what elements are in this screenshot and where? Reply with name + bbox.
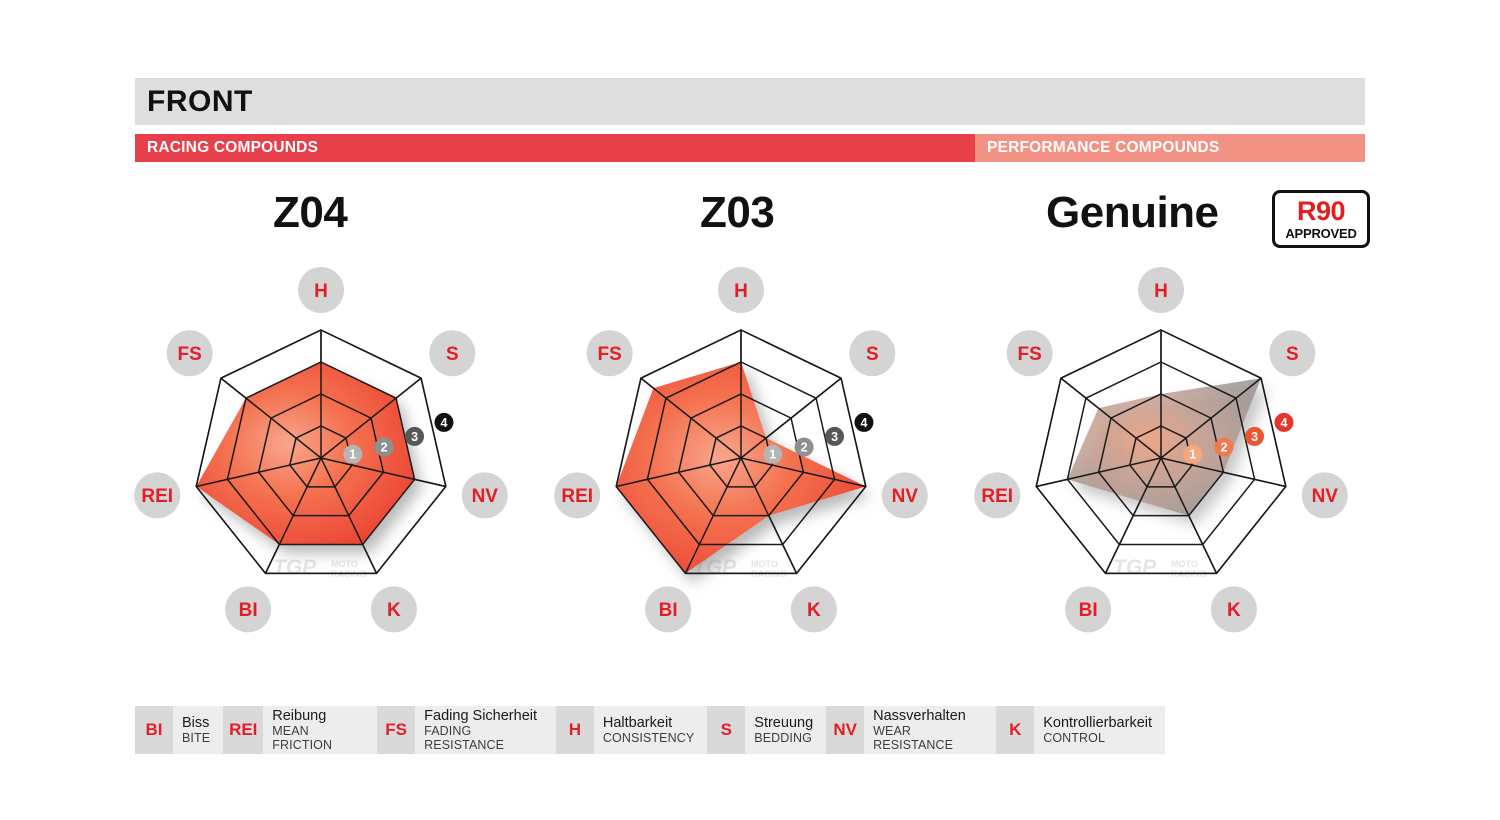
legend-item-rei: REIReibungMEAN FRICTION (223, 706, 377, 754)
axis-label-k: K (371, 586, 417, 632)
legend-term-en: CONTROL (1043, 731, 1152, 745)
legend-terms: ReibungMEAN FRICTION (263, 708, 377, 752)
axis-label-rei: REI (554, 472, 600, 518)
axis-label-bi: BI (645, 586, 691, 632)
legend-term-de: Fading Sicherheit (424, 708, 543, 724)
axis-label-nv: NV (462, 472, 508, 518)
svg-text:2: 2 (381, 440, 388, 454)
r90-badge-sub-label: APPROVED (1285, 227, 1356, 240)
svg-text:MOTO: MOTO (751, 559, 778, 569)
chart-title-z03: Z03 (700, 188, 774, 238)
chart-title-z04: Z04 (273, 188, 347, 238)
legend-term-en: MEAN FRICTION (272, 724, 364, 752)
legend: BIBissBITEREIReibungMEAN FRICTIONFSFadin… (135, 706, 1165, 754)
legend-item-nv: NVNassverhaltenWEAR RESISTANCE (826, 706, 996, 754)
radar-chart-z03: TGPMOTORACING1234HSNVKBIREIFS (551, 262, 951, 662)
svg-text:NV: NV (1312, 486, 1339, 507)
legend-term-de: Biss (182, 715, 210, 731)
legend-item-bi: BIBissBITE (135, 706, 223, 754)
ring-badge-1: 1 (1183, 445, 1202, 464)
svg-text:S: S (1286, 344, 1299, 365)
legend-code-h: H (556, 706, 594, 754)
axis-label-fs: FS (167, 330, 213, 376)
ring-badge-1: 1 (763, 445, 782, 464)
axis-label-bi: BI (1065, 586, 1111, 632)
svg-text:H: H (314, 281, 328, 302)
axis-label-h: H (718, 267, 764, 313)
axis-label-bi: BI (225, 586, 271, 632)
axis-label-nv: NV (1302, 472, 1348, 518)
svg-text:1: 1 (769, 448, 776, 462)
svg-text:4: 4 (1280, 416, 1287, 430)
legend-code-k: K (996, 706, 1034, 754)
axis-label-s: S (849, 330, 895, 376)
ring-badge-2: 2 (795, 438, 814, 457)
svg-text:FS: FS (598, 344, 622, 365)
svg-text:NV: NV (892, 486, 919, 507)
ring-badge-3: 3 (1245, 427, 1264, 446)
svg-text:TGP: TGP (273, 556, 317, 579)
legend-terms: StreuungBEDDING (745, 715, 826, 745)
band-performance-compounds: PERFORMANCE COMPOUNDS (975, 134, 1365, 162)
svg-text:4: 4 (860, 416, 867, 430)
ring-badge-1: 1 (343, 445, 362, 464)
ring-badge-3: 3 (405, 427, 424, 446)
legend-code-bi: BI (135, 706, 173, 754)
svg-text:MOTO: MOTO (1171, 559, 1198, 569)
svg-text:2: 2 (801, 440, 808, 454)
svg-text:S: S (866, 344, 879, 365)
axis-label-h: H (1138, 267, 1184, 313)
svg-text:BI: BI (239, 600, 258, 621)
radar-chart-genuine: TGPMOTORACING1234HSNVKBIREIFS (971, 262, 1371, 662)
legend-term-de: Nassverhalten (873, 708, 983, 724)
legend-item-fs: FSFading SicherheitFADING RESISTANCE (377, 706, 556, 754)
legend-term-en: BITE (182, 731, 210, 745)
svg-text:FS: FS (1018, 344, 1042, 365)
svg-text:MOTO: MOTO (331, 559, 358, 569)
svg-text:3: 3 (1251, 430, 1258, 444)
legend-code-fs: FS (377, 706, 415, 754)
svg-text:2: 2 (1221, 440, 1228, 454)
legend-terms: KontrollierbarkeitCONTROL (1034, 715, 1165, 745)
legend-term-en: BEDDING (754, 731, 813, 745)
ring-badge-4: 4 (434, 413, 453, 432)
axis-label-s: S (429, 330, 475, 376)
legend-code-rei: REI (223, 706, 263, 754)
band-racing-label: RACING COMPOUNDS (135, 139, 318, 157)
legend-term-de: Haltbarkeit (603, 715, 694, 731)
svg-text:REI: REI (561, 486, 593, 507)
legend-terms: Fading SicherheitFADING RESISTANCE (415, 708, 556, 752)
svg-text:H: H (734, 281, 748, 302)
chart-title-genuine: Genuine (1046, 188, 1219, 238)
legend-term-de: Streuung (754, 715, 813, 731)
axis-label-nv: NV (882, 472, 928, 518)
ring-badge-4: 4 (854, 413, 873, 432)
r90-badge-main-label: R90 (1297, 198, 1345, 225)
svg-text:H: H (1154, 281, 1168, 302)
legend-term-en: FADING RESISTANCE (424, 724, 543, 752)
legend-code-s: S (707, 706, 745, 754)
r90-approved-badge: R90 APPROVED (1272, 190, 1370, 248)
svg-text:1: 1 (1189, 448, 1196, 462)
axis-label-s: S (1269, 330, 1315, 376)
ring-badge-4: 4 (1274, 413, 1293, 432)
legend-term-en: CONSISTENCY (603, 731, 694, 745)
legend-item-s: SStreuungBEDDING (707, 706, 826, 754)
axis-label-fs: FS (587, 330, 633, 376)
axis-label-k: K (791, 586, 837, 632)
svg-text:K: K (1227, 600, 1241, 621)
svg-text:TGP: TGP (1113, 556, 1157, 579)
svg-text:1: 1 (349, 448, 356, 462)
svg-text:4: 4 (440, 416, 447, 430)
section-title-bar: FRONT (135, 78, 1365, 125)
axis-label-k: K (1211, 586, 1257, 632)
ring-badge-3: 3 (825, 427, 844, 446)
svg-text:3: 3 (411, 430, 418, 444)
legend-terms: HaltbarkeitCONSISTENCY (594, 715, 707, 745)
legend-term-de: Reibung (272, 708, 364, 724)
page-title: FRONT (135, 85, 253, 119)
svg-text:3: 3 (831, 430, 838, 444)
legend-item-h: HHaltbarkeitCONSISTENCY (556, 706, 707, 754)
legend-item-k: KKontrollierbarkeitCONTROL (996, 706, 1165, 754)
axis-label-rei: REI (974, 472, 1020, 518)
svg-text:REI: REI (141, 486, 173, 507)
svg-text:S: S (446, 344, 459, 365)
svg-text:FS: FS (178, 344, 202, 365)
radar-chart-z04: TGPMOTORACING1234HSNVKBIREIFS (131, 262, 531, 662)
svg-text:NV: NV (472, 486, 499, 507)
compound-category-bands: RACING COMPOUNDS PERFORMANCE COMPOUNDS (135, 134, 1365, 162)
axis-label-fs: FS (1007, 330, 1053, 376)
legend-term-en: WEAR RESISTANCE (873, 724, 983, 752)
svg-text:BI: BI (659, 600, 678, 621)
ring-badge-2: 2 (375, 438, 394, 457)
ring-badge-2: 2 (1215, 438, 1234, 457)
axis-label-h: H (298, 267, 344, 313)
band-racing-compounds: RACING COMPOUNDS (135, 134, 975, 162)
band-performance-label: PERFORMANCE COMPOUNDS (975, 139, 1219, 157)
legend-terms: NassverhaltenWEAR RESISTANCE (864, 708, 996, 752)
axis-label-rei: REI (134, 472, 180, 518)
svg-text:BI: BI (1079, 600, 1098, 621)
legend-term-de: Kontrollierbarkeit (1043, 715, 1152, 731)
legend-code-nv: NV (826, 706, 864, 754)
svg-text:K: K (387, 600, 401, 621)
svg-text:REI: REI (981, 486, 1013, 507)
svg-text:K: K (807, 600, 821, 621)
legend-terms: BissBITE (173, 715, 223, 745)
